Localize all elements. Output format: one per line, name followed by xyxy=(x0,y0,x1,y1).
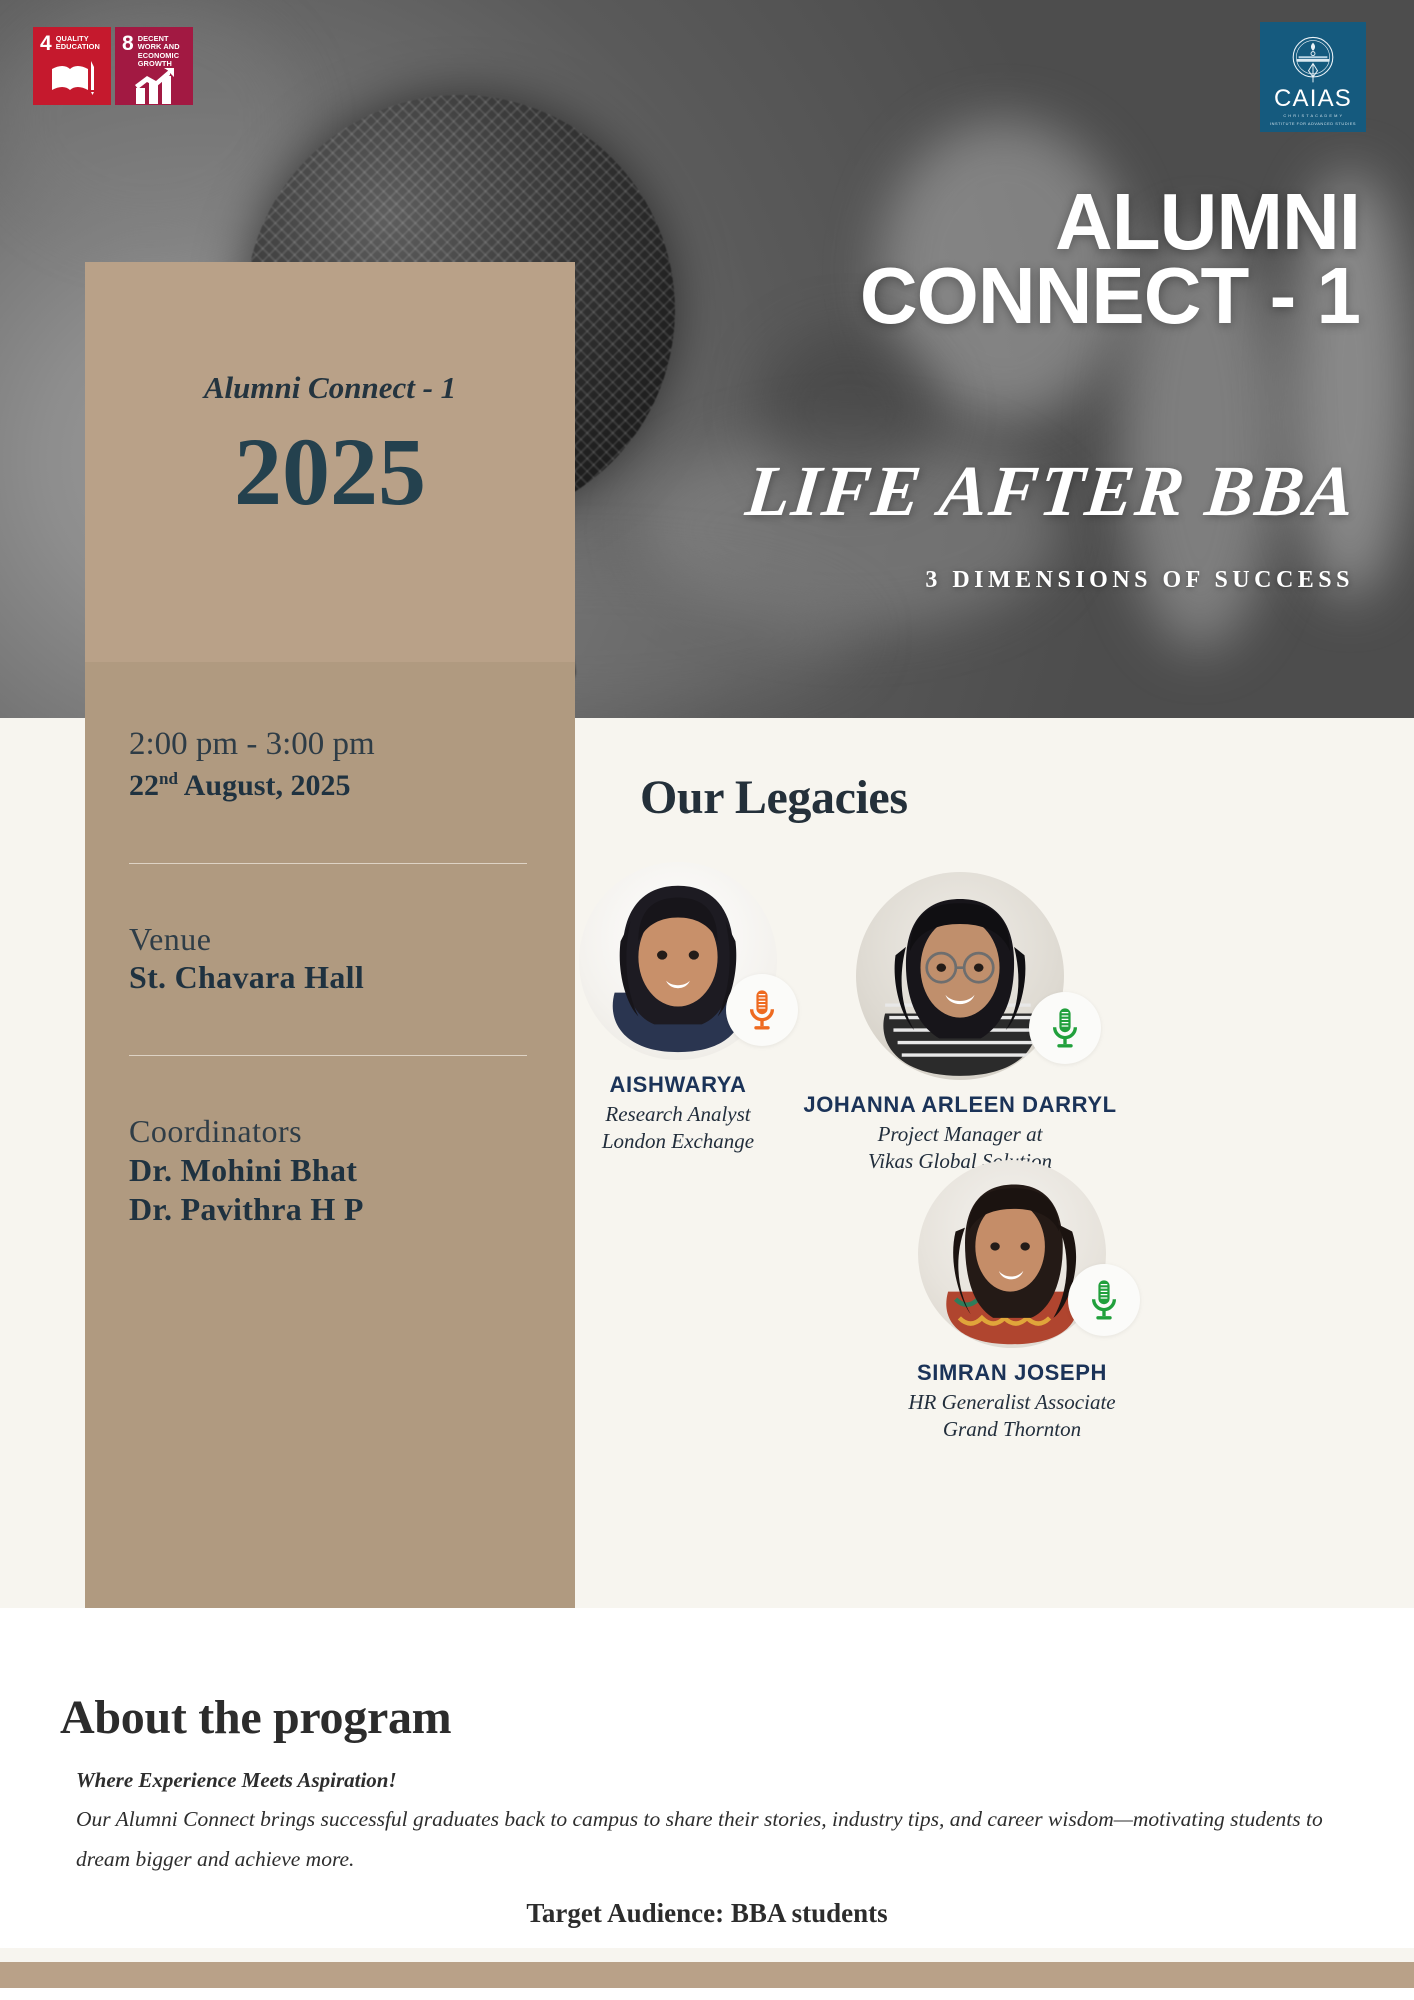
speaker-role-line-1: Project Manager at xyxy=(765,1121,1155,1148)
venue-value: St. Chavara Hall xyxy=(129,958,527,997)
sdg-badge-8-number: 8 xyxy=(122,34,134,53)
coordinators-block: Coordinators Dr. Mohini Bhat Dr. Pavithr… xyxy=(129,1112,527,1228)
hero-script-title: LIFE AFTER BBA xyxy=(572,455,1360,527)
venue-block: Venue St. Chavara Hall xyxy=(129,920,527,997)
legacies-heading: Our Legacies xyxy=(640,770,908,825)
speaker-role-line-2: Grand Thornton xyxy=(862,1416,1162,1443)
event-year: 2025 xyxy=(85,424,575,520)
event-kicker: Alumni Connect - 1 xyxy=(85,370,575,406)
footer-padding xyxy=(0,1988,1414,2000)
speaker-photo-wrap xyxy=(862,1160,1162,1348)
event-details-panel: 2:00 pm - 3:00 pm 22nd August, 2025 Venu… xyxy=(85,662,575,1608)
growth-chart-arrow-icon xyxy=(122,68,187,104)
speaker-portrait-illustration xyxy=(856,872,1064,1080)
about-heading: About the program xyxy=(60,1690,451,1745)
speaker-role: HR Generalist Associate Grand Thornton xyxy=(862,1389,1162,1443)
speaker-name: JOHANNA ARLEEN DARRYL xyxy=(765,1092,1155,1118)
about-lead: Where Experience Meets Aspiration! xyxy=(76,1768,397,1793)
caias-logo-subtitle-1: C H R I S T A C A D E M Y xyxy=(1283,113,1342,118)
hero-title-line-1: ALUMNI xyxy=(580,185,1360,259)
speaker-role-line-1: HR Generalist Associate xyxy=(862,1389,1162,1416)
microphone-icon xyxy=(1029,992,1101,1064)
hero-title: ALUMNI CONNECT - 1 xyxy=(580,185,1360,334)
speaker-name: SIMRAN JOSEPH xyxy=(862,1360,1162,1386)
speaker-photo-wrap xyxy=(765,872,1155,1080)
divider xyxy=(129,1055,527,1056)
event-date-rest: August, 2025 xyxy=(178,769,351,802)
about-section: About the program Where Experience Meets… xyxy=(0,1608,1414,1948)
coordinator-name-2: Dr. Pavithra H P xyxy=(129,1190,527,1229)
sdg-badge-4-header: 4 QUALITY EDUCATION xyxy=(40,34,105,53)
speaker-card: SIMRAN JOSEPH HR Generalist Associate Gr… xyxy=(862,1160,1162,1443)
footer-bar xyxy=(0,1962,1414,1988)
hero-tagline: 3 DIMENSIONS OF SUCCESS xyxy=(554,567,1354,594)
event-date: 22nd August, 2025 xyxy=(129,767,527,805)
event-title-panel: Alumni Connect - 1 2025 xyxy=(85,262,575,662)
sdg-badge-4-number: 4 xyxy=(40,34,52,53)
caias-emblem-icon xyxy=(1286,32,1340,86)
sdg-badge-8-label: DECENT WORK AND ECONOMIC GROWTH xyxy=(138,34,187,68)
speaker-card: JOHANNA ARLEEN DARRYL Project Manager at… xyxy=(765,872,1155,1175)
caias-logo-subtitle-2: INSTITUTE FOR ADVANCED STUDIES xyxy=(1270,121,1356,126)
event-date-ordinal: nd xyxy=(159,769,178,788)
microphone-glyph xyxy=(1048,1007,1082,1049)
speaker-photo xyxy=(856,872,1064,1080)
sdg-badge-8: 8 DECENT WORK AND ECONOMIC GROWTH xyxy=(115,27,193,105)
microphone-glyph xyxy=(1087,1279,1121,1321)
target-audience: Target Audience: BBA students xyxy=(0,1898,1414,1929)
sdg-badge-4: 4 QUALITY EDUCATION xyxy=(33,27,111,105)
coordinators-label: Coordinators xyxy=(129,1112,527,1150)
open-book-pencil-icon xyxy=(40,53,105,100)
venue-label: Venue xyxy=(129,920,527,958)
sdg-badge-8-header: 8 DECENT WORK AND ECONOMIC GROWTH xyxy=(122,34,187,68)
divider xyxy=(129,863,527,864)
event-date-day: 22 xyxy=(129,769,159,802)
microphone-icon xyxy=(1068,1264,1140,1336)
about-body: Our Alumni Connect brings successful gra… xyxy=(76,1800,1356,1880)
hero-title-line-2: CONNECT - 1 xyxy=(580,259,1360,333)
event-time: 2:00 pm - 3:00 pm xyxy=(129,724,527,765)
sdg-badges: 4 QUALITY EDUCATION 8 DECENT WORK AND EC… xyxy=(33,27,193,105)
coordinator-name-1: Dr. Mohini Bhat xyxy=(129,1151,527,1190)
caias-logo: CAIAS C H R I S T A C A D E M Y INSTITUT… xyxy=(1260,22,1366,132)
sdg-badge-4-label: QUALITY EDUCATION xyxy=(56,34,105,52)
poster-root: 4 QUALITY EDUCATION 8 DECENT WORK AND EC… xyxy=(0,0,1414,2000)
caias-logo-name: CAIAS xyxy=(1274,87,1352,111)
